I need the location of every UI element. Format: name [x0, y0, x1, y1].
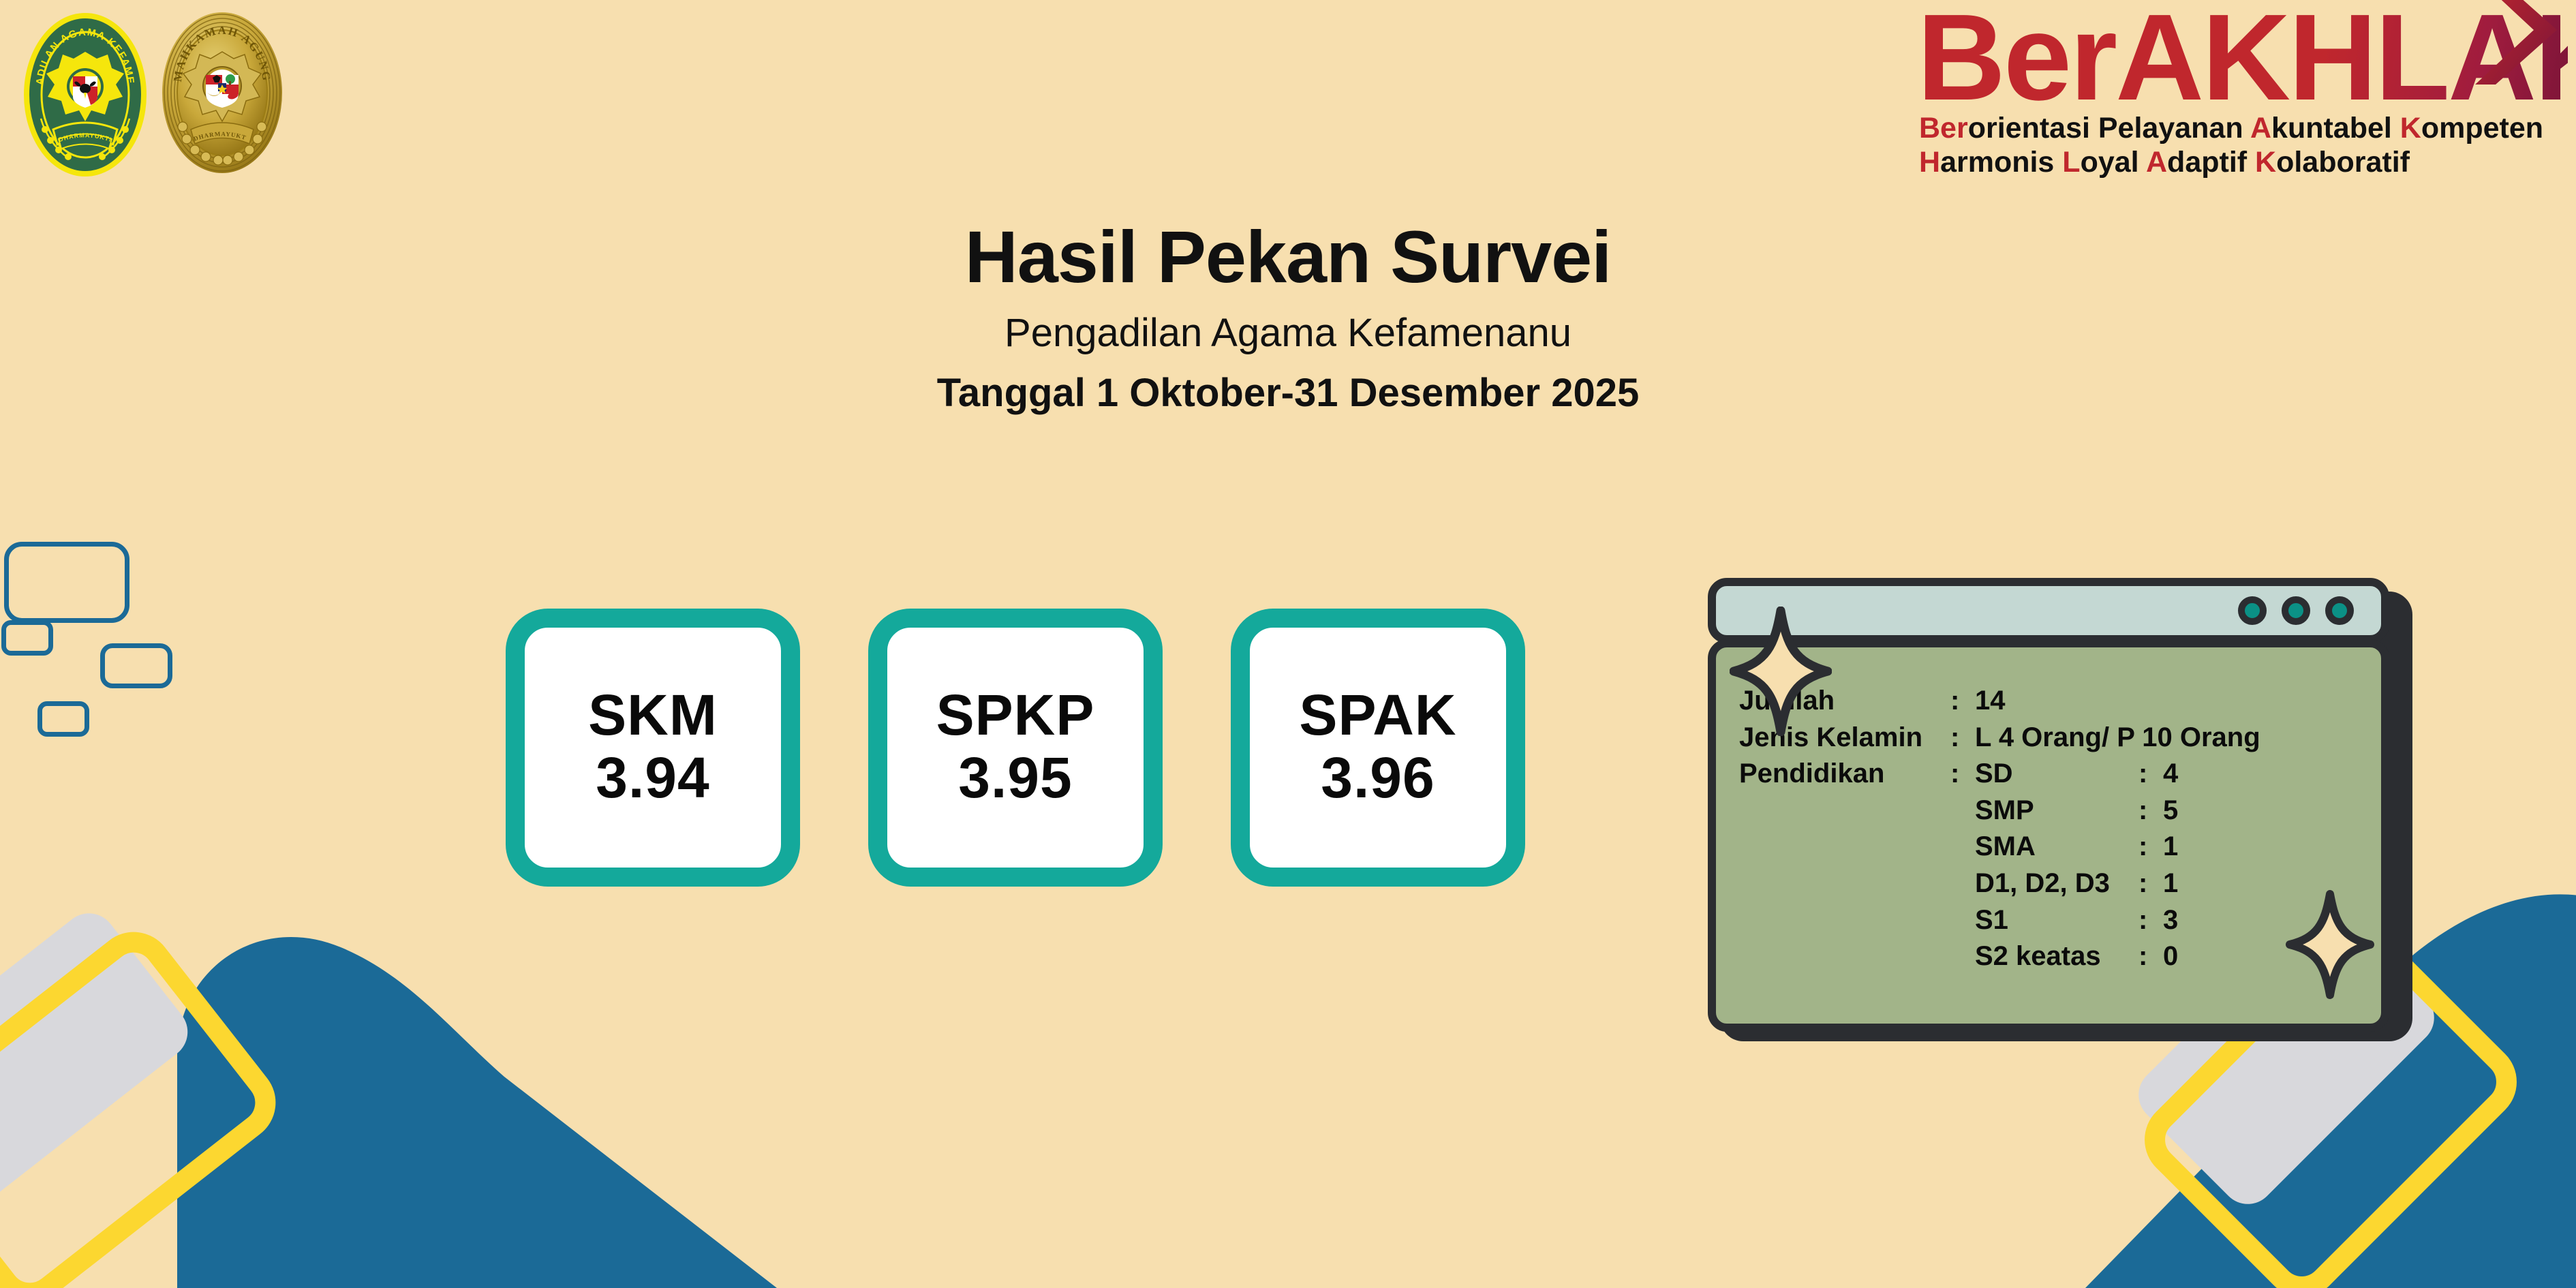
window-control-dots [2238, 596, 2354, 625]
page-subtitle: Pengadilan Agama Kefamenanu [0, 311, 2576, 355]
berakhlak-wordmark: BerAKHLAK [1917, 5, 2568, 111]
decor-outline-rect-1 [4, 542, 129, 623]
data-colon: : [1950, 756, 1975, 793]
data-row-pendidikan: Pendidikan : SD : 4 [1739, 756, 2381, 793]
tagline-1-seg-2: A [2250, 112, 2271, 144]
education-colon: : [2138, 865, 2163, 902]
berakhlak-tagline-line-1: Berorientasi Pelayanan Akuntabel Kompete… [1919, 111, 2568, 145]
education-colon: : [2138, 793, 2163, 829]
data-value: L 4 Orang/ P 10 Orang [1975, 720, 2260, 756]
score-card-label: SPAK [1299, 685, 1456, 746]
tagline-1-seg-3: kuntabel [2271, 112, 2400, 144]
score-card-value: 3.94 [596, 746, 710, 810]
tagline-1-seg-0: Ber [1919, 112, 1968, 144]
education-level: S2 keatas [1975, 938, 2138, 975]
tagline-1-seg-5: ompeten [2421, 112, 2543, 144]
tagline-2-seg-4: A [2146, 146, 2167, 179]
score-card-spak[interactable]: SPAK 3.96 [1231, 609, 1525, 887]
education-count: 1 [2163, 865, 2178, 902]
education-count: 4 [2163, 756, 2178, 793]
education-colon: : [2138, 829, 2163, 865]
data-key: Pendidikan [1739, 756, 1950, 793]
page-title: Hasil Pekan Survei [0, 218, 2576, 295]
tagline-2-seg-5: daptif [2167, 146, 2255, 179]
window-dot-2[interactable] [2282, 596, 2310, 625]
education-count: 1 [2163, 829, 2178, 865]
date-range: Tanggal 1 Oktober-31 Desember 2025 [0, 371, 2576, 415]
sparkle-icon-top [1730, 607, 1832, 736]
decor-outline-rect-2 [1, 620, 53, 656]
tagline-2-seg-2: L [2062, 146, 2080, 179]
tagline-2-seg-3: oyal [2081, 146, 2146, 179]
emblem-group: PENGADILAN AGAMA KEFAMENANU DHARMAYUKTI [20, 10, 286, 180]
decor-outline-rect-4 [37, 701, 89, 737]
education-count: 3 [2163, 902, 2178, 939]
data-row-jenis-kelamin: Jenis Kelamin : L 4 Orang/ P 10 Orang [1739, 720, 2381, 756]
education-level: S1 [1975, 902, 2138, 939]
education-colon: : [2138, 902, 2163, 939]
score-card-label: SPKP [936, 685, 1095, 746]
tagline-2-seg-1: armonis [1940, 146, 2062, 179]
berakhlak-logo: BerAKHLAK Berorientasi Pelayanan Akuntab… [1880, 5, 2568, 179]
education-count: 5 [2163, 793, 2178, 829]
sparkle-icon-bottom [2286, 890, 2374, 999]
education-level: D1, D2, D3 [1975, 865, 2138, 902]
decor-outline-rect-3 [100, 643, 172, 688]
tagline-2-seg-6: K [2255, 146, 2276, 179]
education-count: 0 [2163, 938, 2178, 975]
data-colon: : [1950, 683, 1975, 720]
education-row-sma: SMA : 1 [1975, 829, 2381, 865]
emblem-pengadilan-agama-kefamenanu: PENGADILAN AGAMA KEFAMENANU DHARMAYUKTI [20, 10, 150, 180]
education-row-smp: SMP : 5 [1975, 793, 2381, 829]
score-card-label: SKM [588, 685, 718, 746]
tagline-2-seg-7: olaboratif [2276, 146, 2410, 179]
score-card-value: 3.96 [1321, 746, 1435, 810]
score-card-spkp[interactable]: SPKP 3.95 [868, 609, 1163, 887]
window-dot-3[interactable] [2325, 596, 2354, 625]
header-block: Hasil Pekan Survei Pengadilan Agama Kefa… [0, 218, 2576, 415]
education-colon: : [2138, 756, 2163, 793]
poster-canvas: PENGADILAN AGAMA KEFAMENANU DHARMAYUKTI [0, 0, 2576, 1288]
education-colon: : [2138, 938, 2163, 975]
emblem-mahkamah-agung: MAHKAMAH AGUNG DHARMAYUKTI [159, 10, 286, 177]
data-value: 14 [1975, 683, 2006, 720]
respondent-data-list: Jumlah : 14 Jenis Kelamin : L 4 Orang/ P… [1739, 683, 2381, 975]
education-level: SMA [1975, 829, 2138, 865]
respondent-info-window: Jumlah : 14 Jenis Kelamin : L 4 Orang/ P… [1708, 578, 2410, 1032]
tagline-2-seg-0: H [1919, 146, 1940, 179]
chevron-arrow-icon [2471, 0, 2573, 90]
score-card-group: SKM 3.94 SPKP 3.95 SPAK 3.96 [506, 609, 1525, 887]
score-card-value: 3.95 [958, 746, 1073, 810]
education-level: SMP [1975, 793, 2138, 829]
tagline-1-seg-4: K [2400, 112, 2421, 144]
tagline-1-seg-1: orientasi Pelayanan [1968, 112, 2250, 144]
data-colon: : [1950, 720, 1975, 756]
data-row-jumlah: Jumlah : 14 [1739, 683, 2381, 720]
window-dot-1[interactable] [2238, 596, 2267, 625]
education-level: SD [1975, 756, 2138, 793]
score-card-skm[interactable]: SKM 3.94 [506, 609, 800, 887]
berakhlak-tagline-line-2: Harmonis Loyal Adaptif Kolaboratif [1919, 145, 2568, 179]
